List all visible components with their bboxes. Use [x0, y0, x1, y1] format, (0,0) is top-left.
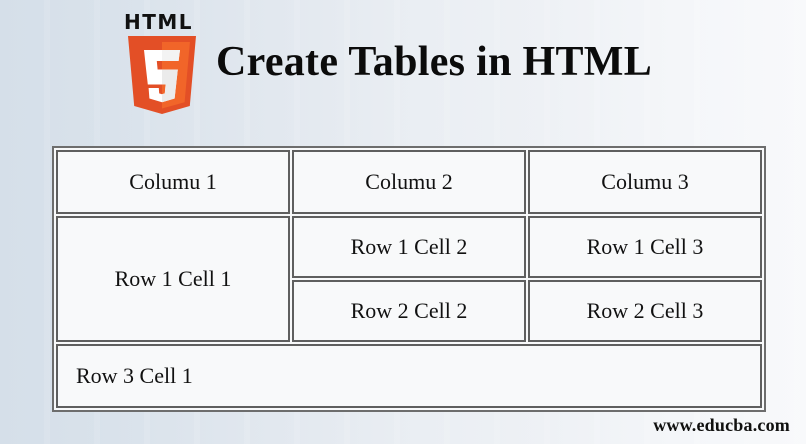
page-header: HTML Create Tables in HTML [118, 8, 652, 116]
table-header-cell-2: Columu 2 [292, 150, 526, 214]
table-cell-row2-col2: Row 2 Cell 2 [292, 280, 526, 342]
table-container: Columu 1 Columu 2 Columu 3 Row 1 Cell 1 … [52, 146, 754, 412]
table-header-cell-1: Columu 1 [56, 150, 290, 214]
slide-canvas: HTML Create Tables in HTML Columu 1 Colu… [0, 0, 806, 444]
table-cell-row1-col1: Row 1 Cell 1 [56, 216, 290, 342]
footer-watermark: www.educba.com [653, 415, 790, 436]
html5-logo: HTML [118, 10, 210, 114]
table-row: Row 1 Cell 1 Row 1 Cell 2 Row 1 Cell 3 [56, 216, 762, 278]
table-cell-row2-col3: Row 2 Cell 3 [528, 280, 762, 342]
table-header-cell-3: Columu 3 [528, 150, 762, 214]
table-cell-row3-col1: Row 3 Cell 1 [56, 344, 762, 408]
table-cell-row1-col2: Row 1 Cell 2 [292, 216, 526, 278]
table-row: Row 3 Cell 1 [56, 344, 762, 408]
table-cell-row1-col3: Row 1 Cell 3 [528, 216, 762, 278]
html-demo-table: Columu 1 Columu 2 Columu 3 Row 1 Cell 1 … [52, 146, 766, 412]
html5-shield-icon [124, 36, 200, 114]
page-title: Create Tables in HTML [216, 41, 652, 83]
table-header-row: Columu 1 Columu 2 Columu 3 [56, 150, 762, 214]
table-body: Columu 1 Columu 2 Columu 3 Row 1 Cell 1 … [56, 150, 762, 408]
html5-wordmark-text: HTML [124, 12, 193, 32]
